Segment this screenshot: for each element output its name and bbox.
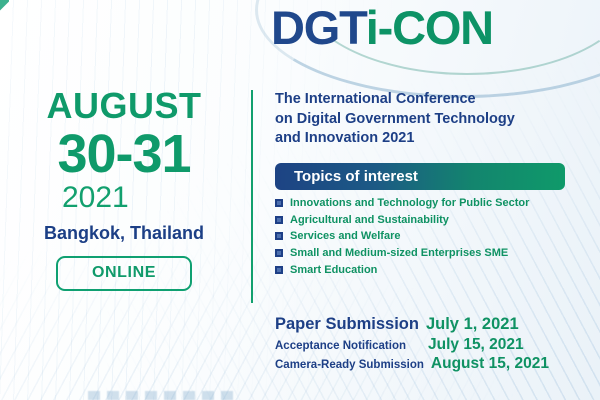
- conference-info-panel: The International Conference on Digital …: [275, 90, 595, 280]
- topic-label: Innovations and Technology for Public Se…: [290, 197, 529, 209]
- list-item: Smart Education: [275, 264, 595, 276]
- conference-title-line-1: The International Conference: [275, 91, 476, 107]
- bottom-cropped-content-ghost: [88, 391, 238, 400]
- conference-poster: DGTi-CON AUGUST 30-31 2021 Bangkok, Thai…: [0, 0, 600, 400]
- event-days: 30-31: [0, 127, 248, 182]
- conference-title-line-3: and Innovation 2021: [275, 130, 414, 146]
- deadline-date: July 15, 2021: [428, 336, 524, 354]
- conference-title-line-2: on Digital Government Technology: [275, 111, 515, 127]
- square-bullet-icon: [275, 249, 283, 257]
- topic-label: Smart Education: [290, 264, 377, 276]
- topics-list: Innovations and Technology for Public Se…: [275, 197, 595, 275]
- important-dates-section: Paper Submission July 1, 2021 Acceptance…: [275, 315, 600, 373]
- topic-label: Small and Medium-sized Enterprises SME: [290, 247, 508, 259]
- list-item: Innovations and Technology for Public Se…: [275, 197, 595, 209]
- column-divider: [251, 90, 253, 303]
- deadline-date: August 15, 2021: [431, 355, 549, 373]
- topic-label: Agricultural and Sustainability: [290, 214, 449, 226]
- dgti-con-logo: DGTi-CON: [271, 4, 493, 51]
- deadline-row-camera-ready-submission: Camera-Ready Submission August 15, 2021: [275, 355, 600, 373]
- logo-accent-text: i-CON: [366, 1, 493, 54]
- list-item: Small and Medium-sized Enterprises SME: [275, 247, 595, 259]
- square-bullet-icon: [275, 216, 283, 224]
- topics-banner-label: Topics of interest: [275, 169, 418, 184]
- online-mode-badge[interactable]: ONLINE: [56, 256, 192, 291]
- deadline-row-acceptance-notification: Acceptance Notification July 15, 2021: [275, 336, 600, 354]
- deadline-row-paper-submission: Paper Submission July 1, 2021: [275, 315, 600, 334]
- logo-primary-text: DGT: [271, 1, 366, 54]
- event-details-panel: AUGUST 30-31 2021 Bangkok, Thailand ONLI…: [0, 88, 248, 291]
- event-month: AUGUST: [0, 88, 248, 124]
- list-item: Agricultural and Sustainability: [275, 214, 595, 226]
- deadline-label: Camera-Ready Submission: [275, 359, 424, 371]
- corner-accent-mark-icon: [0, 0, 9, 11]
- deadline-label: Paper Submission: [275, 315, 419, 334]
- event-location: Bangkok, Thailand: [0, 224, 248, 242]
- deadline-date: July 1, 2021: [426, 315, 519, 334]
- conference-title: The International Conference on Digital …: [275, 90, 595, 149]
- topic-label: Services and Welfare: [290, 230, 400, 242]
- event-year: 2021: [0, 183, 248, 213]
- topics-of-interest-banner: Topics of interest: [275, 163, 565, 190]
- deadline-label: Acceptance Notification: [275, 340, 406, 352]
- square-bullet-icon: [275, 199, 283, 207]
- list-item: Services and Welfare: [275, 230, 595, 242]
- square-bullet-icon: [275, 232, 283, 240]
- square-bullet-icon: [275, 266, 283, 274]
